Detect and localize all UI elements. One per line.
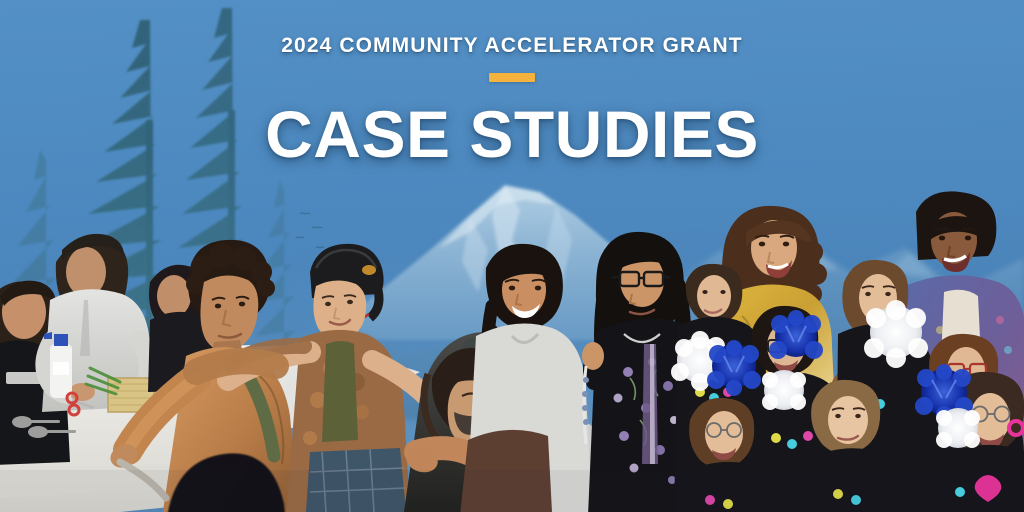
page-title: CASE STUDIES [0,101,1024,167]
pompom-blue-left [707,340,761,396]
accent-divider-bar [489,73,535,82]
pompom-white-center-left [762,370,806,410]
pompom-blue-center [769,310,823,359]
case-studies-banner: 2024 COMMUNITY ACCELERATOR GRANT CASE ST… [0,0,1024,512]
grant-eyebrow-label: 2024 COMMUNITY ACCELERATOR GRANT [0,34,1024,57]
headline-block: 2024 COMMUNITY ACCELERATOR GRANT CASE ST… [0,34,1024,167]
pompom-white-right [936,408,980,448]
cheer-dance-team [671,191,1024,512]
pompom-white-center-right [864,300,928,368]
